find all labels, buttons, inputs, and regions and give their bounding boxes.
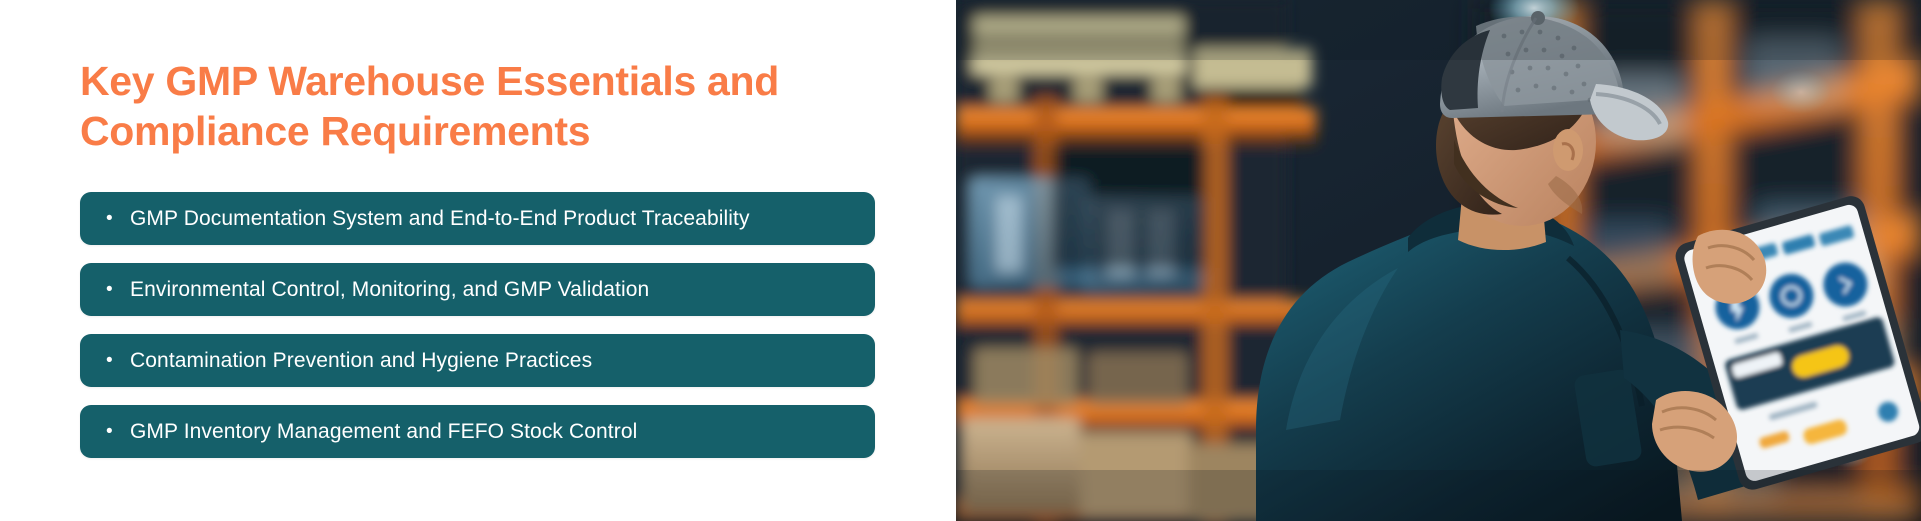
page-title: Key GMP Warehouse Essentials and Complia… xyxy=(80,56,870,156)
bullet-icon: • xyxy=(104,280,130,299)
essentials-list: • GMP Documentation System and End-to-En… xyxy=(80,192,875,458)
gmp-warehouse-banner: Key GMP Warehouse Essentials and Complia… xyxy=(0,0,1921,521)
list-item[interactable]: • GMP Documentation System and End-to-En… xyxy=(80,192,875,245)
photo-illustration xyxy=(956,0,1921,521)
list-item-label: Environmental Control, Monitoring, and G… xyxy=(130,278,649,302)
warehouse-worker-photo xyxy=(956,0,1921,521)
list-item-label: GMP Documentation System and End-to-End … xyxy=(130,207,750,231)
list-item-label: GMP Inventory Management and FEFO Stock … xyxy=(130,420,637,444)
content-pane: Key GMP Warehouse Essentials and Complia… xyxy=(0,0,956,521)
list-item[interactable]: • Contamination Prevention and Hygiene P… xyxy=(80,334,875,387)
bullet-icon: • xyxy=(104,422,130,441)
list-item[interactable]: • GMP Inventory Management and FEFO Stoc… xyxy=(80,405,875,458)
list-item-label: Contamination Prevention and Hygiene Pra… xyxy=(130,349,592,373)
bullet-icon: • xyxy=(104,351,130,370)
list-item[interactable]: • Environmental Control, Monitoring, and… xyxy=(80,263,875,316)
bullet-icon: • xyxy=(104,209,130,228)
